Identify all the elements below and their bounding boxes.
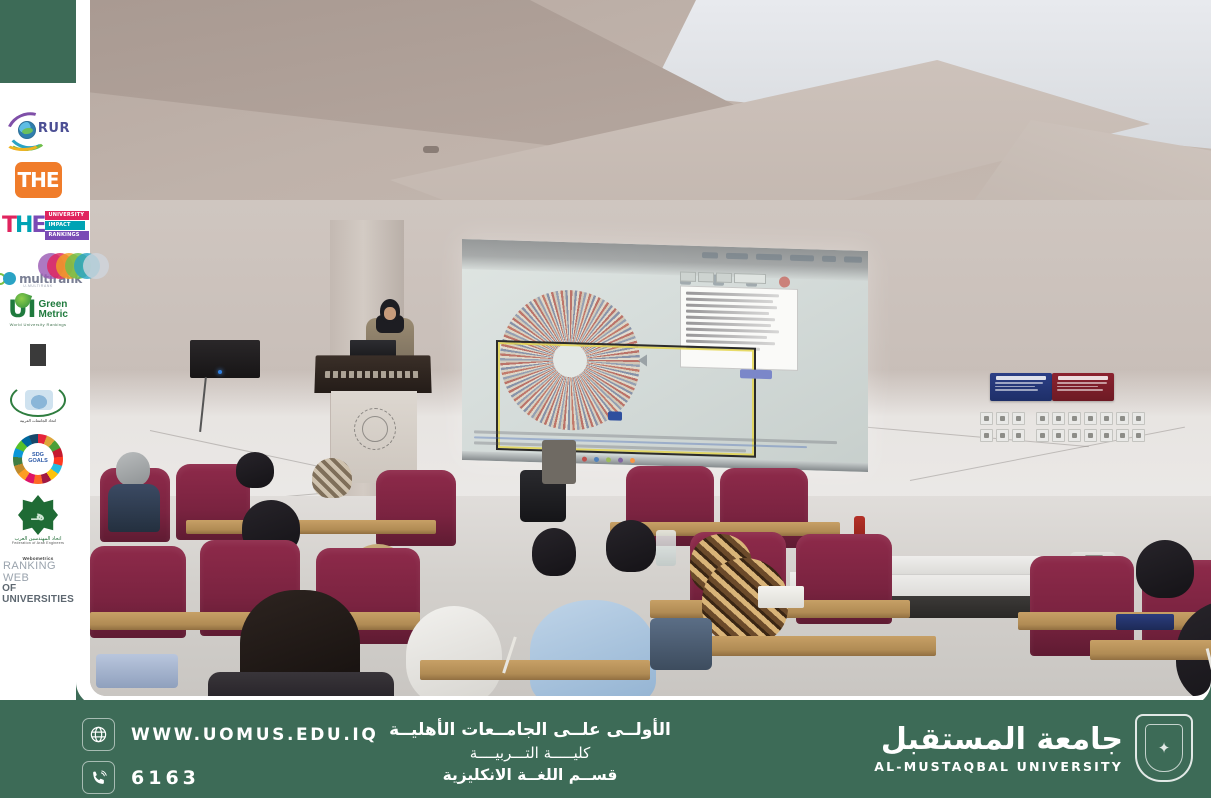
taskbar-icon	[594, 457, 599, 462]
chair	[542, 440, 576, 484]
ranking-logo-temple	[12, 338, 64, 372]
brand-name-arabic: جامعة المستقبل	[874, 723, 1123, 756]
toolbar-chip	[844, 256, 862, 263]
power-outlet-icon	[1052, 429, 1065, 442]
foreground-student-head	[406, 606, 502, 696]
folder	[96, 654, 178, 688]
light-switch-icon	[1116, 412, 1129, 425]
power-outlet-icon	[1116, 429, 1129, 442]
toolbar-chip	[790, 255, 814, 262]
audience-member-head	[606, 520, 656, 572]
phone-icon	[82, 761, 115, 794]
power-outlet-icon	[1132, 429, 1145, 442]
ranking-logo-multirank: multirank U-MULTIRANK	[2, 253, 74, 288]
ranking-logo-the: THE	[3, 162, 73, 198]
shield-emblem-icon: ✦	[1145, 724, 1183, 772]
notebook	[758, 586, 804, 608]
light-switch-icon	[1052, 412, 1065, 425]
name-row	[686, 310, 769, 316]
taskbar-icon	[618, 458, 623, 463]
sort-icon	[698, 272, 714, 282]
socket-row	[980, 412, 1145, 425]
phone-label[interactable]: 6163	[131, 767, 200, 789]
name-row	[686, 292, 779, 298]
refresh-button	[734, 273, 766, 284]
toolbar-chip	[756, 254, 782, 261]
student-desk	[420, 660, 650, 680]
temple-columns-icon	[25, 344, 51, 366]
impact-bar-label: UNIVERSITY	[45, 211, 89, 220]
the-wordmark: THE	[17, 170, 58, 190]
tagline-line-2: كليـــــة التـــربيــــة	[330, 743, 730, 765]
www-globe-icon	[82, 718, 115, 751]
taskbar-icon	[606, 457, 611, 462]
sdg-center-label: SDG GOALS	[22, 453, 54, 465]
multirank-dot-icon	[3, 272, 16, 285]
greenmetric-caption: World University Rankings	[10, 323, 67, 327]
name-row	[686, 334, 767, 340]
wall-speaker-unit	[190, 340, 260, 378]
name-row	[686, 328, 779, 334]
foreground-student-head	[530, 600, 656, 696]
audience-member-body	[108, 484, 160, 532]
the-impact-letter: E	[31, 209, 44, 242]
sign-text-line	[995, 386, 1035, 388]
projection-screen	[462, 239, 868, 472]
audience-member-head	[236, 452, 274, 488]
audience-member-head	[312, 458, 352, 498]
ranking-logo-sdg: SDG GOALS	[3, 434, 73, 484]
audience-member-head	[532, 528, 576, 576]
lecture-hall-photo	[90, 0, 1211, 696]
name-row	[686, 322, 771, 328]
warning-sign-blue	[990, 373, 1052, 401]
power-outlet-icon	[1012, 429, 1025, 442]
sign-text-line	[995, 382, 1043, 384]
ranking-logo-federation-arab-engineers: هـ اتحاد المهندسين العرب Federation of A…	[6, 495, 70, 546]
socket-row	[980, 429, 1145, 442]
sign-text-line	[1057, 382, 1107, 384]
university-brand-lockup: جامعة المستقبل AL-MUSTAQBAL UNIVERSITY ✦	[874, 714, 1193, 782]
sign-text-line	[1057, 386, 1098, 388]
brand-name-english: AL-MUSTAQBAL UNIVERSITY	[874, 759, 1123, 774]
audience-member-head	[116, 452, 150, 486]
light-switch-icon	[1084, 412, 1097, 425]
webometrics-line1: RANKING WEB	[3, 561, 73, 584]
name-row	[686, 316, 775, 322]
light-switch-icon	[1036, 412, 1049, 425]
multirank-subtitle: U-MULTIRANK	[23, 285, 53, 288]
light-switch-icon	[1012, 412, 1025, 425]
light-switch-icon	[1132, 412, 1145, 425]
light-switch-icon	[980, 412, 993, 425]
toolbar-chip	[702, 252, 718, 258]
impact-bar-label: RANKINGS	[45, 231, 89, 240]
student-desk	[186, 520, 436, 534]
sign-text-line	[1057, 389, 1103, 391]
foreground-student-body	[208, 672, 394, 696]
toolbar-chip	[822, 256, 836, 262]
power-outlet-icon	[980, 429, 993, 442]
power-led-icon	[218, 370, 222, 374]
shuffle-icon	[680, 271, 696, 281]
light-switch-icon	[1068, 412, 1081, 425]
presenter-face	[384, 307, 396, 320]
the-impact-letter: H	[15, 209, 31, 242]
podium-arabic-text	[325, 371, 421, 378]
globe-icon	[25, 390, 53, 410]
octagram-seal-icon: هـ	[18, 495, 58, 535]
power-outlet-icon	[1100, 429, 1113, 442]
sign-text-line	[995, 389, 1038, 391]
ranking-logo-rur: RUR	[3, 111, 73, 151]
power-outlet-icon	[1068, 429, 1081, 442]
color-wheel-icon	[779, 276, 790, 287]
power-outlet-icon	[1084, 429, 1097, 442]
tagline-line-1: الأولــى علــى الجامــعات الأهليــة	[330, 718, 730, 743]
name-row	[686, 304, 777, 310]
ranking-logo-the-impact: T H E UNIVERSITY IMPACT RANKINGS	[3, 209, 73, 242]
tagline-line-3: قســم اللغــة الانكليزية	[330, 764, 730, 786]
ranking-logo-webometrics: Webometrics RANKING WEB OF UNIVERSITIES	[3, 557, 73, 606]
fae-glyph: هـ	[31, 509, 44, 522]
student-desk	[1090, 640, 1211, 660]
impact-bar-label: IMPACT	[45, 221, 85, 230]
warning-sign-red	[1052, 373, 1114, 401]
ranking-logo-greenmetric: UI Green Metric World University Ranking…	[3, 299, 73, 327]
the-impact-letter: T	[2, 209, 15, 242]
laurel-wreath-icon	[10, 383, 66, 417]
audience-member-head	[1136, 540, 1194, 598]
sign-title-bar	[996, 376, 1046, 380]
taskbar-icon	[582, 457, 587, 462]
name-row	[686, 298, 773, 304]
globe-icon	[18, 121, 36, 139]
fae-caption-english: Federation of Arab Engineers	[12, 542, 64, 546]
toolbar-chip	[726, 253, 748, 260]
arab-union-caption: اتحاد الجامعات العربية	[20, 419, 56, 423]
university-shield-logo: ✦	[1135, 714, 1193, 782]
power-outlet-icon	[996, 429, 1009, 442]
hide-icon	[716, 273, 732, 283]
wall-socket-panel	[980, 412, 1145, 442]
handbag	[650, 618, 712, 670]
ranking-logo-arab-universities-union: اتحاد الجامعات العربية	[5, 383, 71, 423]
screen-tooltip	[740, 369, 772, 379]
sign-title-bar	[1058, 376, 1108, 380]
rur-wordmark: RUR	[38, 122, 70, 135]
webometrics-line2: OF UNIVERSITIES	[2, 584, 74, 605]
student-desk	[686, 636, 936, 656]
auditorium-seat	[376, 470, 456, 546]
podium-top	[314, 355, 431, 393]
taskbar-icon	[630, 458, 635, 463]
footer-bar: WWW.UOMUS.EDU.IQ 6163 الأولــى علــى الج…	[0, 700, 1211, 798]
water-bottle	[656, 530, 676, 566]
power-outlet-icon	[1036, 429, 1049, 442]
department-tagline: الأولــى علــى الجامــعات الأهليــة كليـ…	[330, 718, 730, 787]
poster-root: RUR THE T H E UNIVERSITY IMPACT RANKINGS	[0, 0, 1211, 798]
light-switch-icon	[1100, 412, 1113, 425]
accreditation-logo-strip: RUR THE T H E UNIVERSITY IMPACT RANKINGS	[0, 83, 76, 700]
university-seal	[354, 408, 396, 450]
light-switch-icon	[996, 412, 1009, 425]
ceiling-light-fixture	[423, 146, 439, 153]
greenmetric-line2: Metric	[38, 310, 67, 321]
photo-card	[76, 0, 1211, 706]
name-rows	[686, 290, 792, 352]
name-row	[686, 339, 775, 345]
book	[1116, 614, 1174, 630]
